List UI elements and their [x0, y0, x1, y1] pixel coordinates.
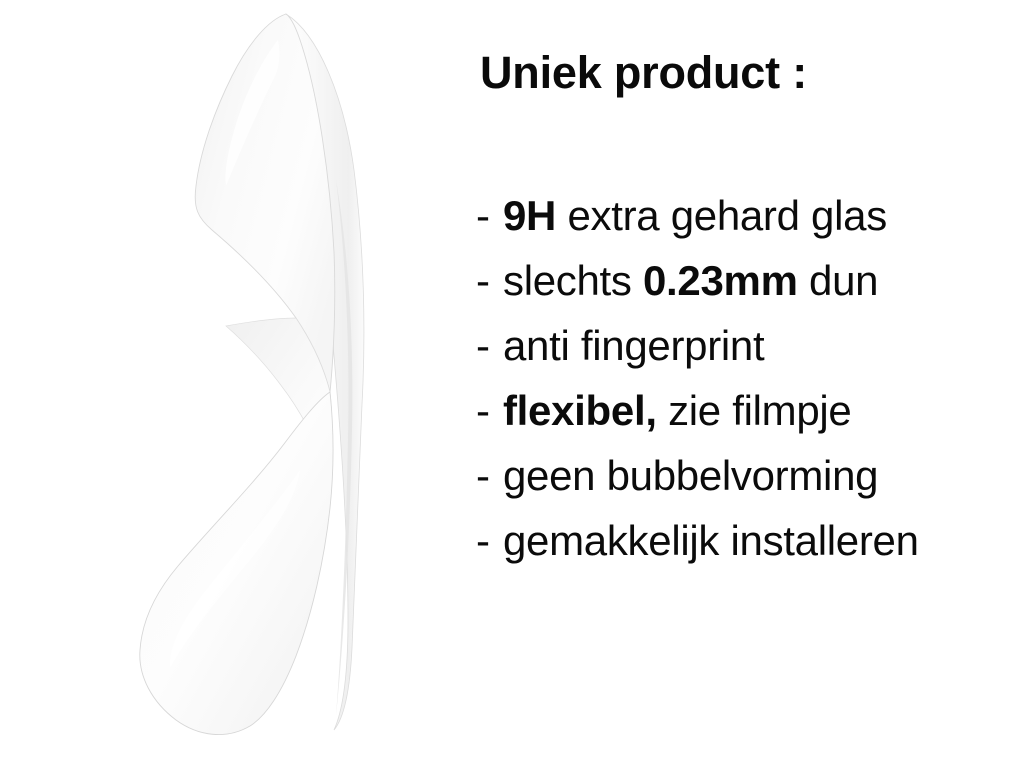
product-promo-slide: Uniek product : -9H extra gehard glas -s…	[0, 0, 1024, 768]
feature-text-bold: 0.23mm	[643, 257, 798, 304]
feature-text-post: dun	[798, 257, 879, 304]
list-item: -anti fingerprint	[476, 313, 1024, 378]
bullet-dash: -	[476, 183, 503, 248]
bullet-dash: -	[476, 508, 503, 573]
feature-text-post: extra gehard glas	[556, 192, 887, 239]
list-item: -9H extra gehard glas	[476, 183, 1024, 248]
bullet-dash: -	[476, 313, 503, 378]
feature-list: -9H extra gehard glas -slechts 0.23mm du…	[476, 183, 1024, 573]
page-title: Uniek product :	[480, 50, 807, 95]
feature-text-pre: anti fingerprint	[503, 322, 764, 369]
feature-text-bold: 9H	[503, 192, 556, 239]
bullet-dash: -	[476, 378, 503, 443]
bullet-dash: -	[476, 248, 503, 313]
list-item: -geen bubbelvorming	[476, 443, 1024, 508]
list-item: -slechts 0.23mm dun	[476, 248, 1024, 313]
list-item: -gemakkelijk installeren	[476, 508, 1024, 573]
text-column: Uniek product : -9H extra gehard glas -s…	[470, 0, 1024, 768]
feature-text-bold: flexibel,	[503, 387, 657, 434]
feature-text-pre: gemakkelijk installeren	[503, 517, 919, 564]
product-image	[0, 0, 460, 768]
feature-text-pre: slechts	[503, 257, 643, 304]
feature-text-post: zie filmpje	[657, 387, 852, 434]
feature-text-pre: geen bubbelvorming	[503, 452, 878, 499]
bullet-dash: -	[476, 443, 503, 508]
list-item: -flexibel, zie filmpje	[476, 378, 1024, 443]
